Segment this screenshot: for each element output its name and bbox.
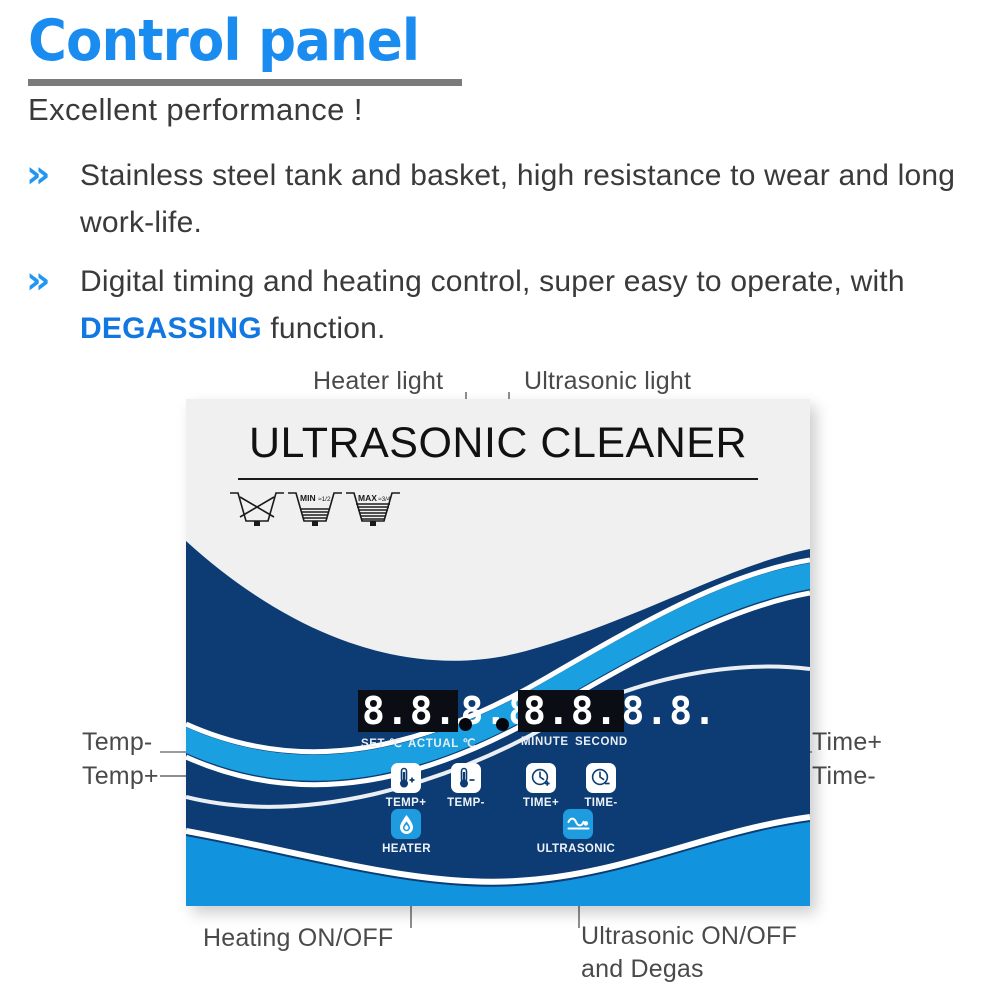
tank-min-level: ≈1/2: [318, 496, 331, 503]
label-minute: MINUTE: [521, 736, 569, 748]
tank-min-label: MIN: [300, 493, 316, 503]
callout-temp-minus: Temp-: [82, 728, 152, 757]
bullet-text: Digital timing and heating control, supe…: [80, 258, 960, 352]
temp-plus-label: TEMP+: [376, 797, 436, 809]
time-minus-button[interactable]: [586, 763, 616, 793]
temperature-set-digits: 8.8.: [358, 691, 458, 731]
callout-temp-plus: Temp+: [82, 762, 159, 791]
timer-minute-digits: 8.8.: [518, 691, 619, 731]
callout-heater-light: Heater light: [313, 367, 443, 396]
feature-bullet-list: » Stainless steel tank and basket, high …: [24, 152, 984, 364]
heater-indicator-led: [459, 718, 472, 731]
tank-level-icon-group: MIN ≈1/2 MAX ≈3/4: [228, 487, 408, 529]
temperature-display: 8.8. 8.8.: [358, 690, 458, 732]
time-plus-button[interactable]: [526, 763, 556, 793]
temp-minus-button[interactable]: [451, 763, 481, 793]
panel-brand-title: ULTRASONIC CLEANER: [249, 419, 747, 468]
callout-time-plus: Time+: [812, 728, 882, 757]
infographic-root: Control panel Excellent performance ! » …: [0, 0, 1000, 1000]
double-chevron-right-icon: »: [26, 160, 47, 188]
timer-display: 8.8. 8.8.: [518, 690, 624, 732]
label-second: SECOND: [575, 736, 628, 748]
heater-button[interactable]: [391, 809, 421, 839]
title-underline-bar: [28, 79, 462, 86]
list-item: » Digital timing and heating control, su…: [24, 258, 984, 352]
thermometer-minus-icon: [456, 767, 476, 789]
time-plus-label: TIME+: [511, 797, 571, 809]
time-minus-label: TIME-: [571, 797, 631, 809]
page-title: Control panel: [28, 8, 419, 74]
temp-plus-button[interactable]: [391, 763, 421, 793]
control-panel: ULTRASONIC CLEANER MIN ≈1/2: [186, 399, 810, 906]
sine-wave-icon: [567, 816, 590, 833]
callout-ultrasonic-light: Ultrasonic light: [524, 367, 691, 396]
subtitle: Excellent performance !: [28, 92, 363, 128]
clock-plus-icon: [531, 768, 552, 789]
timer-second-digits: 8.8.: [619, 691, 718, 731]
temp-minus-label: TEMP-: [436, 797, 496, 809]
ultrasonic-label: ULTRASONIC: [531, 843, 621, 855]
degassing-emphasis: DEGASSING: [80, 312, 262, 345]
heater-label: HEATER: [369, 843, 444, 855]
bullet-text: Stainless steel tank and basket, high re…: [80, 152, 980, 246]
label-set-celsius: SET ℃: [361, 736, 402, 750]
thermometer-plus-icon: [396, 767, 416, 789]
label-actual-celsius: ACTUAL ℃: [408, 736, 476, 750]
callout-time-minus: Time-: [812, 762, 876, 791]
panel-brand-underline: [238, 478, 758, 480]
tank-max-label: MAX: [358, 493, 377, 503]
double-chevron-right-icon: »: [26, 266, 47, 294]
clock-minus-icon: [591, 768, 612, 789]
ultrasonic-button[interactable]: [563, 809, 593, 839]
water-drop-icon: [398, 814, 415, 835]
callout-heating-on-off: Heating ON/OFF: [203, 924, 393, 953]
tank-max-level: ≈3/4: [378, 496, 391, 503]
tank-empty-icon: [230, 493, 284, 526]
callout-ultrasonic-on-off-degas: Ultrasonic ON/OFF and Degas: [581, 920, 811, 986]
list-item: » Stainless steel tank and basket, high …: [24, 152, 984, 246]
ultrasonic-indicator-led: [496, 718, 509, 731]
